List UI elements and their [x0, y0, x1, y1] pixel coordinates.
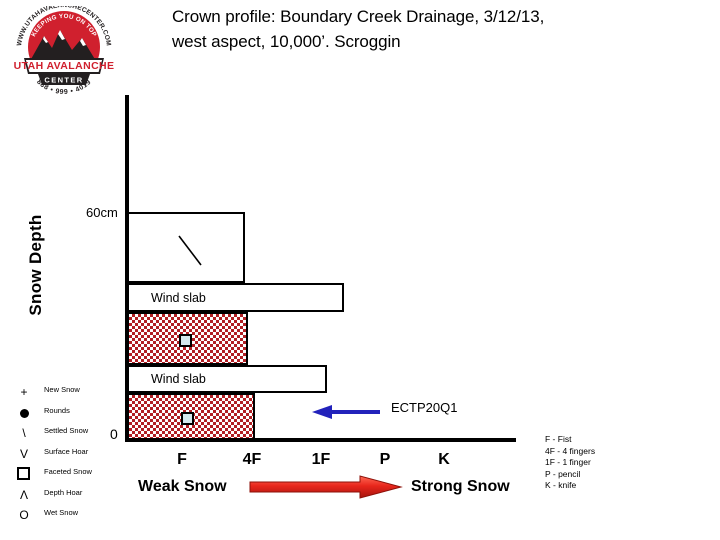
svg-text:UTAH AVALANCHE: UTAH AVALANCHE	[14, 60, 115, 72]
layer-label-wind-slab-upper: Wind slab	[151, 291, 206, 305]
legend-item-depth-hoar: Λ Depth Hoar	[8, 485, 116, 506]
settled-snow-icon	[177, 234, 203, 267]
layer-settled-snow	[127, 212, 245, 283]
plus-icon: +	[12, 382, 36, 402]
legend-item-wet-snow: O Wet Snow	[8, 505, 116, 526]
chart-title-line1: Crown profile: Boundary Creek Drainage, …	[172, 4, 652, 29]
y-axis-label: Snow Depth	[26, 205, 46, 325]
layer-faceted-snow-lower	[127, 393, 255, 440]
vee-icon: V	[12, 444, 36, 464]
hardness-key-f: F - Fist	[545, 434, 595, 446]
hardness-key-4f: 4F - 4 fingers	[545, 446, 595, 458]
logo-graphic: UTAH AVALANCHE CENTER WWW.UTAHAVALANCHEC…	[10, 6, 118, 98]
legend-item-rounds: Rounds	[8, 403, 116, 424]
square-icon	[17, 467, 30, 480]
legend-label-settled-snow: Settled Snow	[44, 426, 88, 435]
legend-item-new-snow: + New Snow	[8, 382, 116, 403]
chart-title: Crown profile: Boundary Creek Drainage, …	[172, 4, 652, 54]
caret-icon: Λ	[12, 485, 36, 505]
legend-item-surface-hoar: V Surface Hoar	[8, 444, 116, 465]
x-tick-K: K	[424, 451, 464, 469]
svg-text:CENTER: CENTER	[44, 76, 83, 85]
legend-label-surface-hoar: Surface Hoar	[44, 447, 88, 456]
dot-icon	[20, 409, 29, 418]
hardness-key: F - Fist 4F - 4 fingers 1F - 1 finger P …	[545, 434, 595, 492]
ectp-label: ECTP20Q1	[391, 400, 457, 415]
x-tick-1F: 1F	[301, 451, 341, 469]
faceted-snow-icon	[179, 334, 192, 347]
legend-label-rounds: Rounds	[44, 406, 70, 415]
x-tick-P: P	[365, 451, 405, 469]
snow-profile-figure: UTAH AVALANCHE CENTER WWW.UTAHAVALANCHEC…	[0, 0, 720, 540]
layer-wind-slab-upper: Wind slab	[127, 283, 344, 312]
hardness-key-1f: 1F - 1 finger	[545, 457, 595, 469]
backslash-icon: \	[12, 423, 36, 443]
ectp-arrow-icon	[310, 404, 382, 420]
crystal-type-legend: + New Snow Rounds \ Settled Snow V Surfa…	[8, 382, 116, 526]
y-tick-60cm: 60cm	[86, 205, 118, 220]
layer-faceted-snow-upper	[127, 312, 248, 365]
chart-title-line2: west aspect, 10,000’. Scroggin	[172, 29, 652, 54]
legend-item-faceted-snow: Faceted Snow	[8, 464, 116, 485]
hardness-key-p: P - pencil	[545, 469, 595, 481]
legend-label-new-snow: New Snow	[44, 385, 80, 394]
legend-item-settled-snow: \ Settled Snow	[8, 423, 116, 444]
legend-label-faceted-snow: Faceted Snow	[44, 467, 92, 476]
hardness-key-k: K - knife	[545, 480, 595, 492]
layer-wind-slab-lower: Wind slab	[127, 365, 327, 393]
layer-label-wind-slab-lower: Wind slab	[151, 372, 206, 386]
legend-label-depth-hoar: Depth Hoar	[44, 488, 82, 497]
x-tick-F: F	[162, 451, 202, 469]
x-tick-4F: 4F	[232, 451, 272, 469]
circle-icon: O	[12, 505, 36, 525]
strength-gradient-arrow-icon	[248, 474, 403, 500]
utah-avalanche-center-logo: UTAH AVALANCHE CENTER WWW.UTAHAVALANCHEC…	[10, 6, 118, 98]
strong-snow-label: Strong Snow	[411, 478, 510, 496]
legend-label-wet-snow: Wet Snow	[44, 508, 78, 517]
weak-snow-label: Weak Snow	[138, 478, 227, 496]
faceted-snow-icon	[181, 412, 194, 425]
